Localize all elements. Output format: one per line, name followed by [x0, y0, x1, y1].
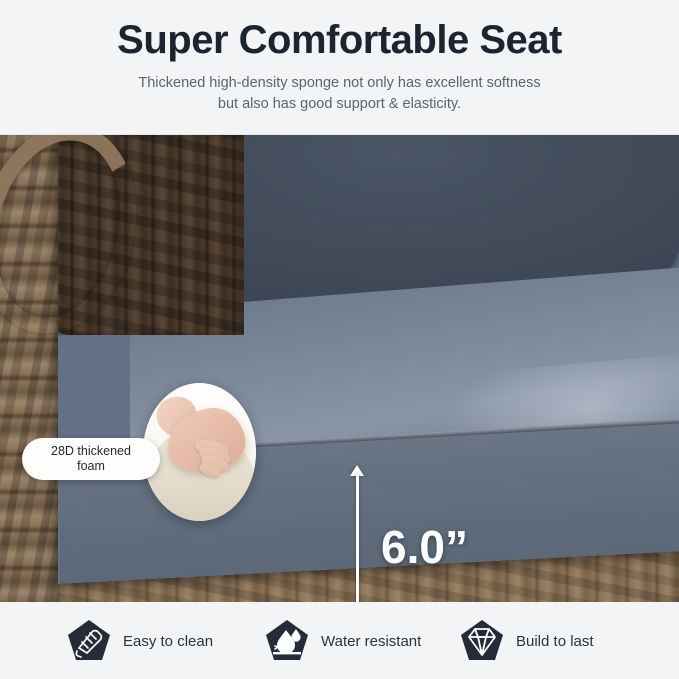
product-photo: 28D thickened foam 6.0”: [0, 135, 679, 602]
subtitle-line-1: Thickened high-density sponge not only h…: [138, 75, 540, 91]
feature-item-water-resistant: Water resistant: [264, 618, 421, 664]
subtitle-line-2: but also has good support & elasticity.: [138, 94, 540, 115]
page-subtitle: Thickened high-density sponge not only h…: [138, 63, 540, 115]
feature-item-easy-to-clean: Easy to clean: [66, 618, 213, 664]
feature-label-easy-to-clean: Easy to clean: [123, 633, 213, 650]
measurement-arrow-icon: [349, 465, 366, 602]
foam-callout-line-2: foam: [77, 459, 105, 473]
measurement-label: 6.0”: [381, 521, 468, 573]
feature-item-build-to-last: Build to last: [459, 618, 594, 664]
water-drop-icon: [264, 618, 310, 664]
header: Super Comfortable Seat Thickened high-de…: [0, 0, 679, 135]
feature-label-water-resistant: Water resistant: [321, 633, 421, 650]
diamond-icon: [459, 618, 505, 664]
arrow-shaft: [356, 474, 359, 602]
foam-callout-line-1: 28D thickened: [51, 444, 131, 458]
foam-callout-pill: 28D thickened foam: [22, 438, 160, 480]
page-title: Super Comfortable Seat: [117, 0, 562, 63]
hand-wiping-cloth-icon: [66, 618, 112, 664]
foam-callout-text: 28D thickened foam: [42, 444, 140, 474]
foam-closeup-inset: [143, 383, 256, 521]
infographic-page: Super Comfortable Seat Thickened high-de…: [0, 0, 679, 679]
feature-label-build-to-last: Build to last: [516, 633, 594, 650]
